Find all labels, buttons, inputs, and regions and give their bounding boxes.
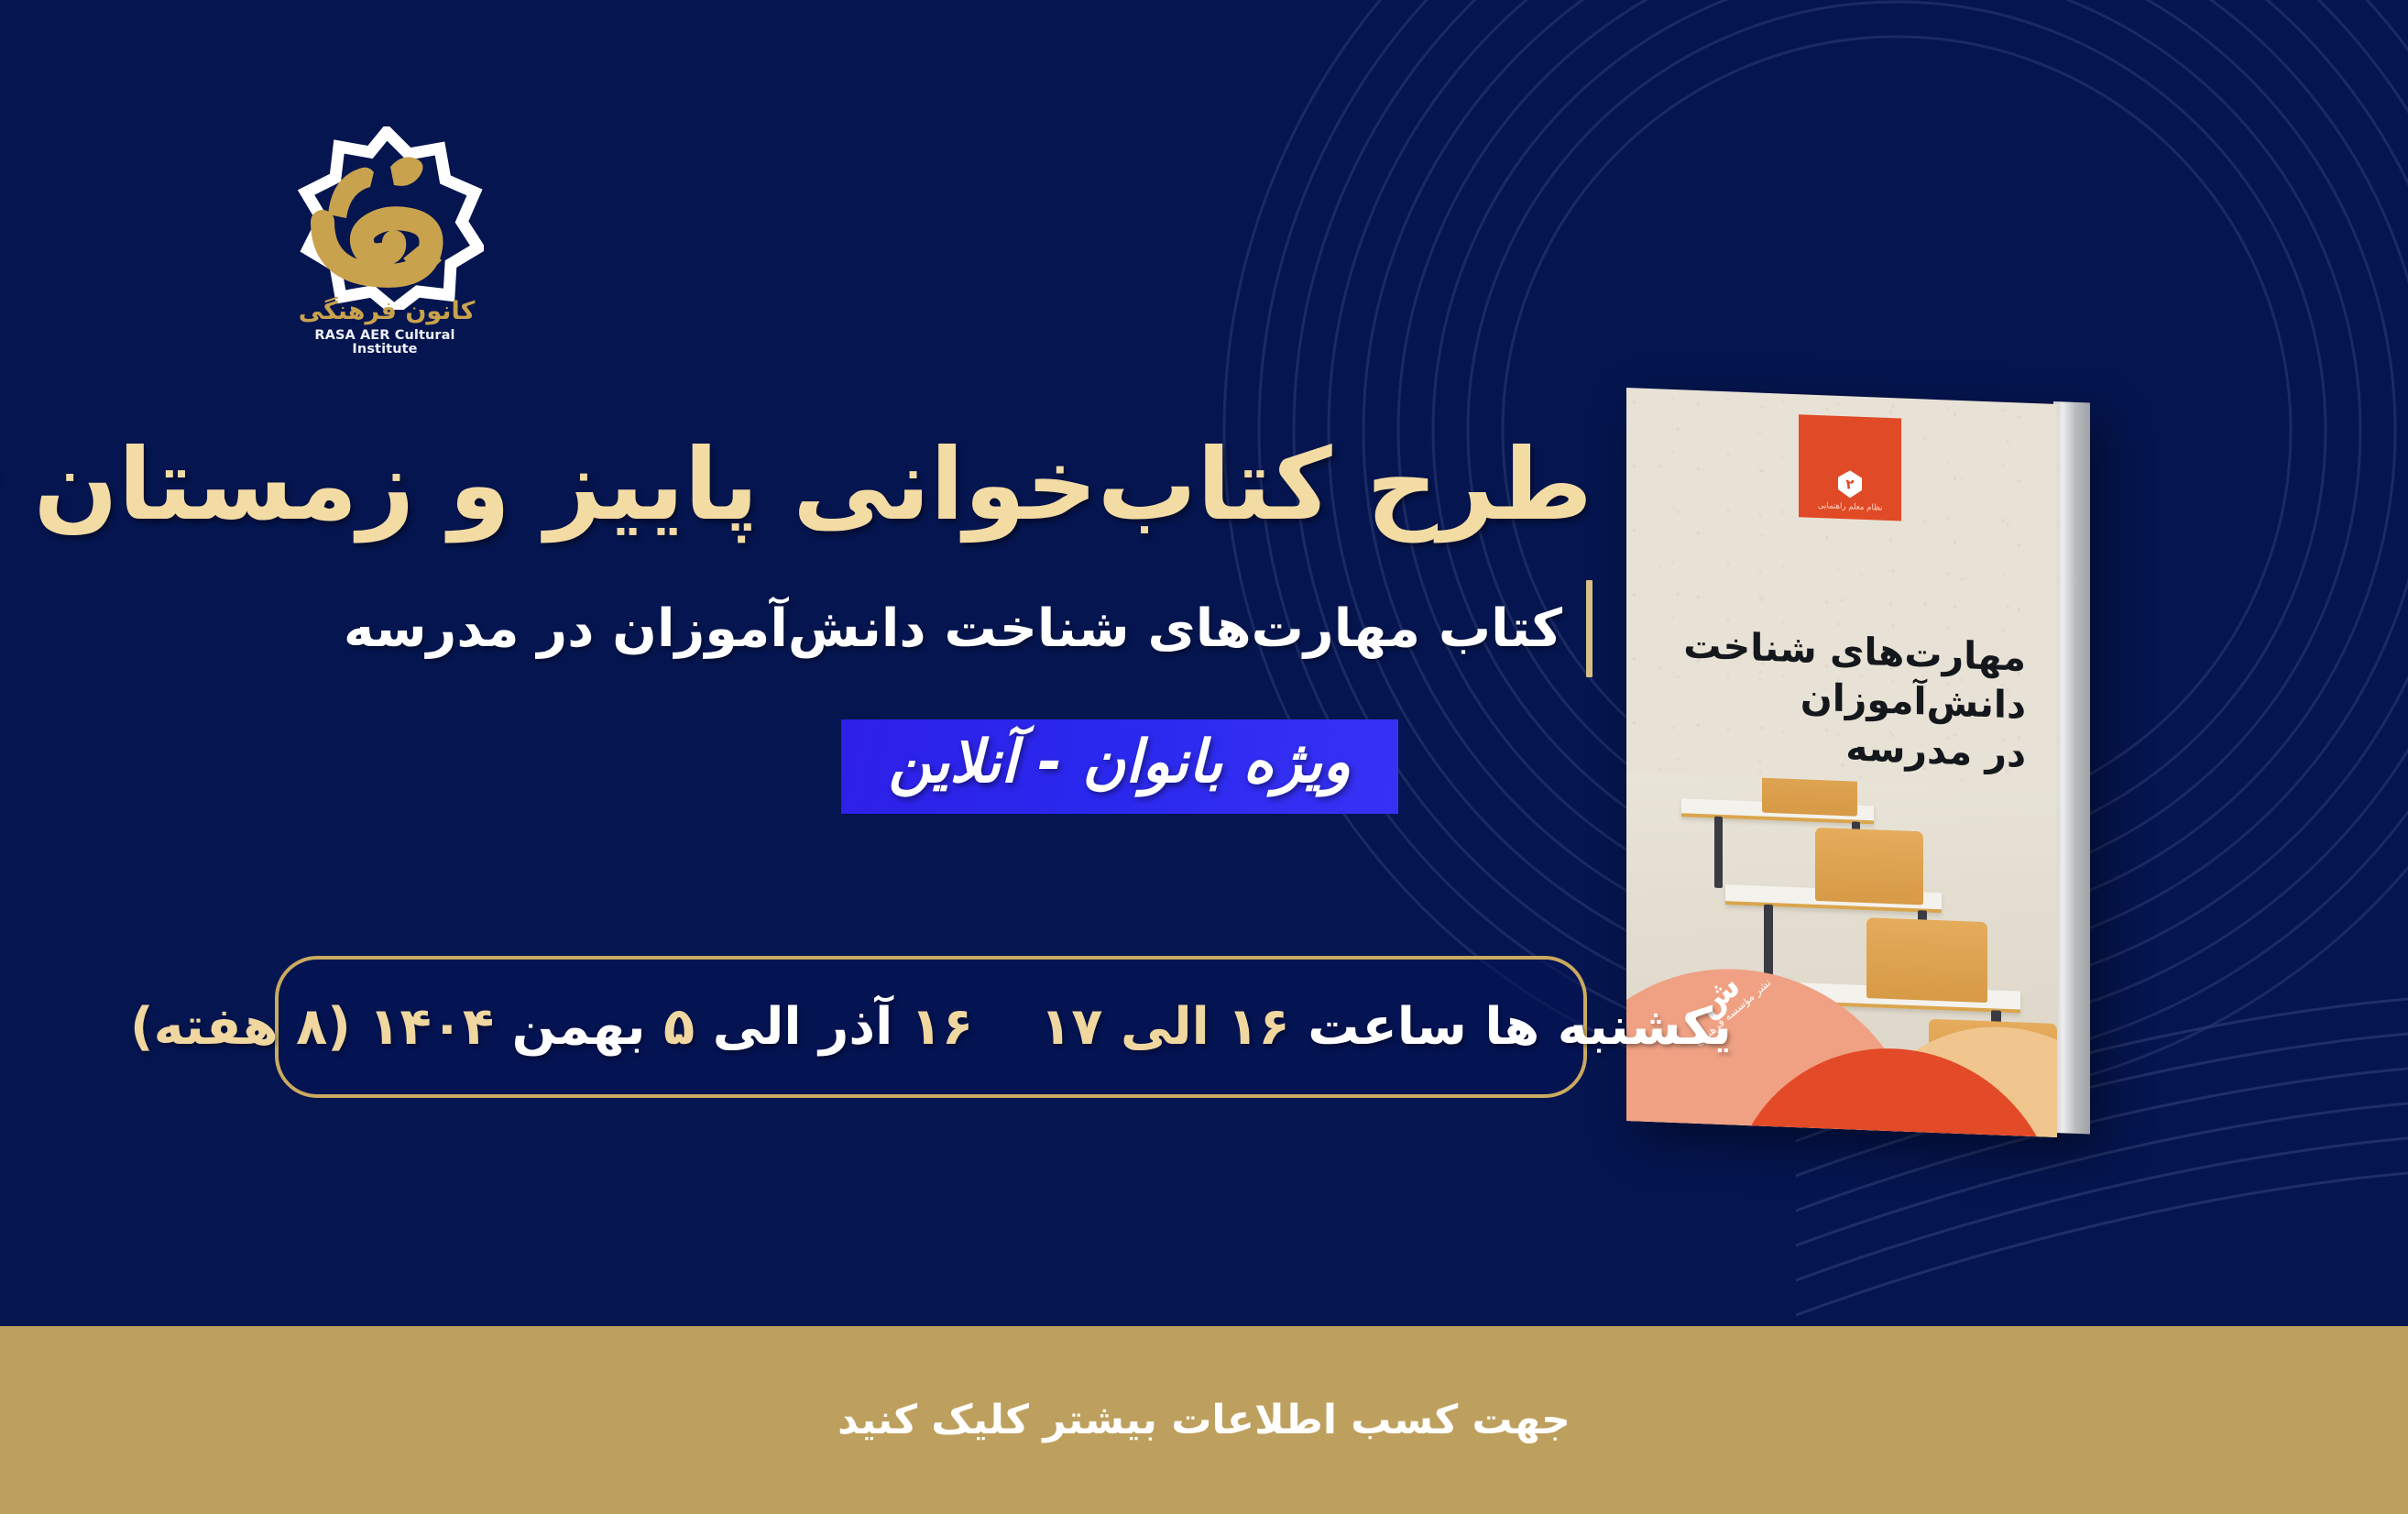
subtitle-row: کتاب مهارت‌های شناخت دانش‌آموزان در مدرس… — [275, 580, 1593, 677]
schedule-time-range: ۱۶ الی ۱۷ — [1040, 997, 1290, 1057]
schedule-duration: (۸ هفته) — [130, 997, 351, 1057]
institute-logo: کانون فرهنگی RASA AER Cultural Institute — [291, 126, 511, 356]
schedule-box: یکشنبه ها ساعت ۱۶ الی ۱۷ ۱۶ آذر الی ۵ به… — [275, 956, 1587, 1098]
book-spine — [2053, 401, 2090, 1135]
footer-cta-text[interactable]: جهت کسب اطلاعات بیشتر کلیک کنید — [837, 1397, 1571, 1443]
schedule-end-month: بهمن — [512, 997, 646, 1057]
subtitle: کتاب مهارت‌های شناخت دانش‌آموزان در مدرس… — [344, 598, 1562, 660]
vertical-divider — [1586, 580, 1593, 677]
schedule-range-mid: الی — [713, 997, 802, 1057]
badge-number: ۲ — [1845, 477, 1854, 491]
chair — [1815, 828, 1923, 905]
series-badge: ۲ نظام معلم راهنمایی — [1799, 414, 1901, 521]
schedule-day-label: یکشنبه ها ساعت — [1308, 997, 1732, 1057]
headline-group: طرح کتاب‌خوانی پاییز و زمستان ۱۴۰۴ کتاب … — [275, 431, 1593, 814]
schedule-year: ۱۴۰۴ — [368, 997, 494, 1057]
page-title: طرح کتاب‌خوانی پاییز و زمستان ۱۴۰۴ — [275, 431, 1593, 542]
classroom-photo — [1626, 773, 2057, 1137]
book-title: مهارت‌های شناخت دانش‌آموزان در مدرسه — [1650, 620, 2026, 778]
logo-latin-name: RASA AER Cultural Institute — [286, 329, 484, 356]
octagram-star-icon — [291, 126, 484, 310]
logo-persian-name: کانون فرهنگی — [295, 299, 478, 324]
chair — [1866, 917, 1987, 1003]
highlight-text: ویژه بانوان - آنلاین — [889, 729, 1351, 796]
highlight-row: ویژه بانوان - آنلاین — [275, 719, 1593, 814]
shield-icon: ۲ — [1838, 470, 1862, 499]
promotional-banner: کانون فرهنگی RASA AER Cultural Institute… — [0, 0, 2408, 1514]
schedule-end-day: ۵ — [663, 997, 695, 1057]
badge-caption: نظام معلم راهنمایی — [1818, 501, 1883, 513]
schedule-start-month: آذر — [819, 997, 892, 1057]
footer-cta-bar[interactable]: جهت کسب اطلاعات بیشتر کلیک کنید — [0, 1326, 2408, 1514]
schedule-start-day: ۱۶ — [911, 997, 973, 1057]
highlight-badge: ویژه بانوان - آنلاین — [841, 719, 1398, 814]
schedule-text: یکشنبه ها ساعت ۱۶ الی ۱۷ ۱۶ آذر الی ۵ به… — [130, 997, 1732, 1057]
desk-leg — [1714, 817, 1723, 888]
